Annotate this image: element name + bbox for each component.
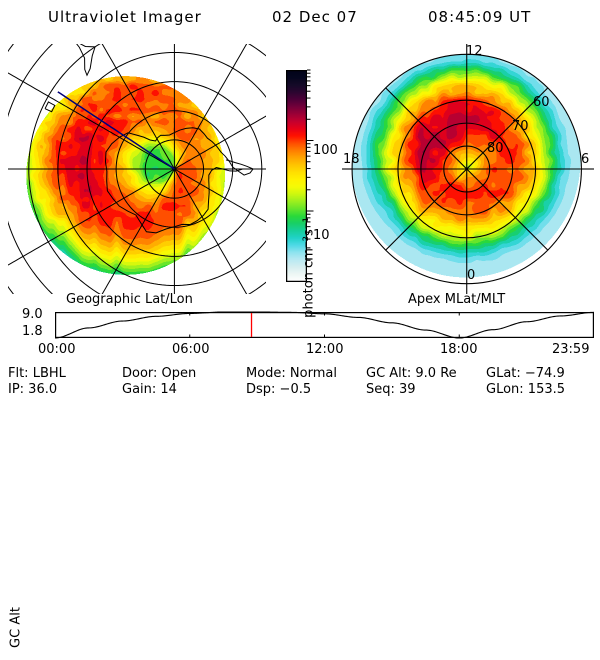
status-dsp: Dsp: −0.5 [246,382,311,397]
time-tick-2359: 23:59 [552,342,589,357]
status-gain: Gain: 14 [122,382,177,397]
status-glat: GLat: −74.9 [486,366,565,381]
altitude-axis-title: GC Alt [9,596,24,660]
status-glon: GLon: 153.5 [486,382,565,397]
time-tick-1200: 12:00 [306,342,343,357]
mlt-label-0: 0 [467,268,475,283]
time-tick-0600: 06:00 [172,342,209,357]
mlt-label-6: 6 [581,152,589,167]
time-tick-0000: 00:00 [38,342,75,357]
right-panel-title: Apex MLat/MLT [408,292,505,307]
colorbar-axis-title-wrap: photon cm⁻²s⁻¹ [268,90,288,260]
status-mode: Mode: Normal [246,366,337,381]
header-bar: Ultraviolet Imager 02 Dec 07 08:45:09 UT [0,8,600,32]
geographic-aurora-plot [8,44,266,294]
status-seq: Seq: 39 [366,382,416,397]
altitude-axis-title-wrap: GC Alt [0,303,18,339]
status-ip: IP: 36.0 [8,382,57,397]
status-gc-alt: GC Alt: 9.0 Re [366,366,457,381]
status-filter: Flt: LBHL [8,366,66,381]
observation-time: 08:45:09 UT [428,8,531,26]
left-panel-title: Geographic Lat/Lon [66,292,193,307]
mlat-label-70: 70 [512,119,529,134]
altitude-min-label: 1.8 [22,324,43,339]
colorbar-tick-10: 10 [313,228,330,243]
page-title: Ultraviolet Imager [48,8,202,26]
observation-date: 02 Dec 07 [272,8,358,26]
apex-mlat-mlt-plot [342,44,594,294]
altitude-timeline-plot [54,310,595,339]
mlat-label-80: 80 [487,141,504,156]
mlt-label-12: 12 [466,44,483,59]
mlt-label-18: 18 [343,152,360,167]
time-tick-1800: 18:00 [440,342,477,357]
colorbar-tick-100: 100 [313,143,338,158]
mlat-label-60: 60 [533,95,550,110]
altitude-max-label: 9.0 [22,307,43,322]
status-door: Door: Open [122,366,196,381]
